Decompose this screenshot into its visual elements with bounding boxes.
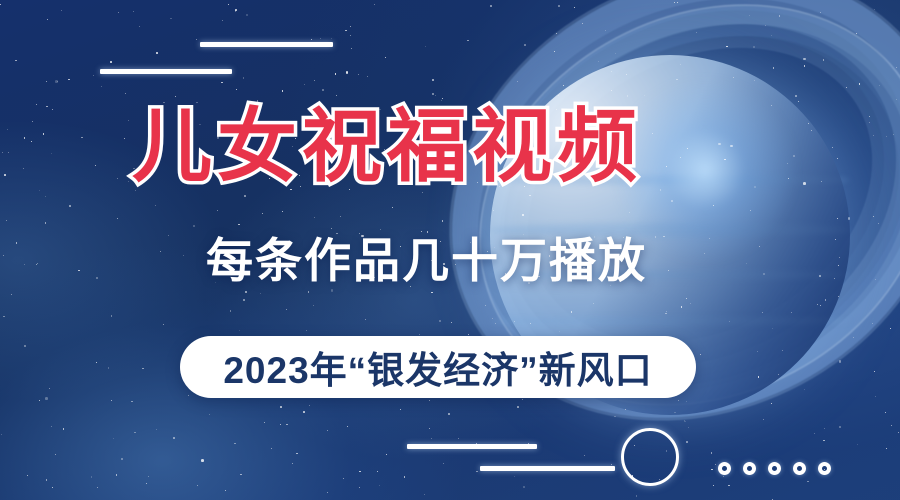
decor-circle-outline	[621, 428, 679, 486]
decor-dot	[743, 462, 756, 475]
decor-dot	[718, 462, 731, 475]
top-decor-line-1	[200, 42, 333, 47]
poster-title: 儿女祝福视频	[132, 107, 642, 187]
tagline-pill-text: 2023年“银发经济”新风口	[223, 340, 652, 394]
bottom-decor-line-1	[407, 444, 537, 449]
bottom-decor-line-2	[480, 466, 615, 471]
tagline-pill: 2023年“银发经济”新风口	[180, 336, 696, 398]
top-decor-line-2	[100, 69, 232, 74]
poster-canvas: 儿女祝福视频 每条作品几十万播放 2023年“银发经济”新风口	[0, 0, 900, 500]
decor-dot-row	[718, 462, 831, 475]
poster-subtitle: 每条作品几十万播放	[206, 237, 647, 284]
decor-dot	[768, 462, 781, 475]
decor-dot	[793, 462, 806, 475]
decor-dot	[818, 462, 831, 475]
